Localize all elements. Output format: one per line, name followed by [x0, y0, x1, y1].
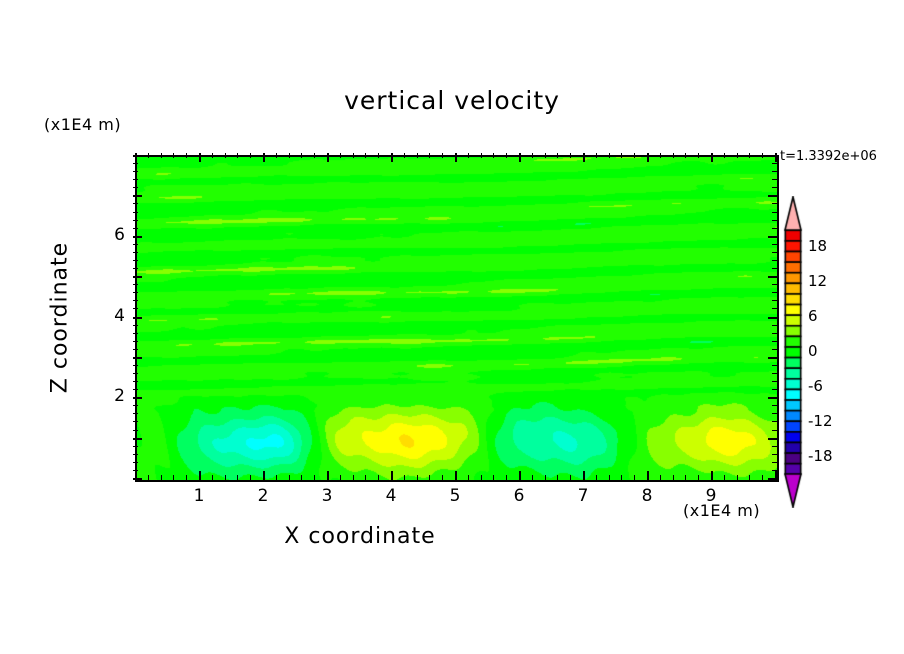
axis-tick-y	[133, 187, 138, 188]
axis-tick-y	[133, 397, 142, 399]
axis-tick-x	[698, 153, 699, 158]
axis-tick-x	[737, 475, 738, 480]
colorbar-tick-label: 0	[808, 342, 818, 360]
axis-tick-x	[327, 153, 329, 162]
axis-tick-x	[570, 475, 571, 480]
axis-tick-x	[173, 475, 174, 480]
axis-tick-x	[468, 153, 469, 158]
axis-tick-x	[314, 153, 315, 158]
axis-tick-x	[250, 153, 251, 158]
axis-tick-y	[133, 260, 138, 261]
axis-tick-x	[621, 475, 622, 480]
axis-tick-x	[263, 471, 265, 480]
axis-tick-x	[583, 153, 585, 162]
axis-tick-x	[173, 153, 174, 158]
axis-tick-x	[468, 475, 469, 480]
y-axis-title: Z coordinate	[48, 198, 73, 438]
axis-tick-x	[314, 475, 315, 480]
axis-tick-x	[161, 153, 162, 158]
axis-tick-x	[481, 153, 482, 158]
axis-tick-x	[673, 153, 674, 158]
colorbar-tick-label: -12	[808, 412, 833, 430]
axis-tick-x	[698, 475, 699, 480]
axis-tick-x	[711, 471, 713, 480]
axis-tick-x	[199, 471, 201, 480]
axis-tick-y	[133, 179, 138, 180]
axis-tick-x	[417, 475, 418, 480]
x-tick-label: 1	[179, 486, 219, 506]
axis-tick-y	[772, 171, 777, 172]
axis-tick-x	[250, 475, 251, 480]
axis-tick-x	[621, 153, 622, 158]
axis-tick-y	[133, 365, 138, 366]
axis-tick-x	[685, 153, 686, 158]
axis-tick-x	[391, 153, 393, 162]
axis-tick-y	[772, 163, 777, 164]
axis-tick-y	[772, 187, 777, 188]
axis-tick-x	[609, 153, 610, 158]
axis-tick-y	[772, 179, 777, 180]
axis-tick-y	[133, 220, 138, 221]
axis-tick-x	[340, 475, 341, 480]
axis-tick-y	[133, 212, 138, 213]
axis-tick-x	[749, 475, 750, 480]
x-tick-label: 3	[307, 486, 347, 506]
axis-tick-x	[570, 153, 571, 158]
axis-tick-x	[429, 475, 430, 480]
colorbar-tick-label: 6	[808, 307, 818, 325]
axis-tick-x	[365, 475, 366, 480]
axis-tick-x	[532, 153, 533, 158]
axis-tick-x	[417, 153, 418, 158]
axis-tick-y	[133, 446, 138, 447]
x-tick-label: 7	[563, 486, 603, 506]
y-tick-label: 2	[101, 386, 125, 406]
axis-tick-x	[557, 475, 558, 480]
axis-tick-x	[596, 475, 597, 480]
axis-tick-x	[506, 153, 507, 158]
axis-tick-x	[724, 153, 725, 158]
axis-tick-x	[545, 475, 546, 480]
y-tick-label: 6	[101, 225, 125, 245]
axis-tick-y	[133, 195, 142, 197]
axis-tick-x	[429, 153, 430, 158]
axis-tick-x	[289, 475, 290, 480]
axis-tick-x	[365, 153, 366, 158]
colorbar[interactable]	[776, 196, 810, 508]
axis-tick-y	[133, 292, 138, 293]
page-title: vertical velocity	[0, 86, 904, 115]
axis-tick-x	[276, 153, 277, 158]
axis-tick-x	[711, 153, 713, 162]
axis-tick-y	[133, 308, 138, 309]
axis-tick-y	[768, 155, 777, 157]
axis-tick-x	[353, 475, 354, 480]
axis-tick-y	[133, 325, 138, 326]
axis-tick-x	[634, 475, 635, 480]
axis-tick-x	[442, 475, 443, 480]
axis-tick-x	[301, 153, 302, 158]
colorbar-tick-label: -6	[808, 377, 823, 395]
x-tick-label: 9	[691, 486, 731, 506]
axis-tick-y	[133, 171, 138, 172]
axis-tick-x	[660, 153, 661, 158]
axis-tick-y	[133, 341, 138, 342]
axis-tick-y	[133, 228, 138, 229]
axis-tick-y	[133, 349, 138, 350]
axis-tick-x	[762, 475, 763, 480]
axis-tick-x	[762, 153, 763, 158]
axis-tick-x	[327, 471, 329, 480]
axis-tick-x	[493, 475, 494, 480]
axis-tick-x	[263, 153, 265, 162]
axis-tick-x	[199, 153, 201, 162]
axis-tick-x	[749, 153, 750, 158]
axis-tick-x	[532, 475, 533, 480]
axis-tick-x	[237, 153, 238, 158]
colorbar-tick-label: 18	[808, 237, 827, 255]
axis-tick-y	[133, 413, 138, 414]
timestamp-annotation: t=1.3392e+06	[780, 149, 877, 164]
colorbar-gradient	[776, 196, 810, 508]
axis-tick-x	[391, 471, 393, 480]
axis-tick-x	[647, 153, 649, 162]
colorbar-tick-label: 12	[808, 272, 827, 290]
axis-tick-x	[506, 475, 507, 480]
axis-tick-x	[685, 475, 686, 480]
axis-tick-y	[133, 163, 138, 164]
y-tick-label: 4	[101, 306, 125, 326]
axis-tick-x	[609, 475, 610, 480]
axis-tick-x	[557, 153, 558, 158]
axis-tick-x	[289, 153, 290, 158]
axis-tick-x	[212, 475, 213, 480]
axis-tick-x	[455, 471, 457, 480]
axis-tick-y	[133, 470, 138, 471]
axis-tick-x	[596, 153, 597, 158]
x-tick-label: 2	[243, 486, 283, 506]
axis-tick-y	[133, 284, 138, 285]
axis-tick-y	[133, 438, 142, 440]
axis-tick-x	[442, 153, 443, 158]
axis-tick-x	[404, 475, 405, 480]
axis-tick-x	[647, 471, 649, 480]
axis-tick-y	[133, 268, 138, 269]
axis-tick-x	[481, 475, 482, 480]
x-tick-label: 4	[371, 486, 411, 506]
axis-tick-x	[276, 475, 277, 480]
axis-tick-x	[148, 475, 149, 480]
contour-plot-area[interactable]	[135, 155, 779, 482]
x-tick-label: 5	[435, 486, 475, 506]
axis-tick-x	[186, 475, 187, 480]
axis-tick-x	[493, 153, 494, 158]
axis-tick-x	[737, 153, 738, 158]
axis-tick-x	[301, 475, 302, 480]
axis-tick-y	[133, 421, 138, 422]
axis-tick-y	[133, 357, 142, 359]
axis-tick-x	[186, 153, 187, 158]
axis-tick-x	[545, 153, 546, 158]
x-tick-label: 6	[499, 486, 539, 506]
axis-tick-y	[133, 430, 138, 431]
axis-tick-y	[133, 373, 138, 374]
axis-tick-y	[133, 300, 138, 301]
axis-tick-x	[340, 153, 341, 158]
x-tick-label: 8	[627, 486, 667, 506]
axis-tick-x	[225, 475, 226, 480]
axis-tick-x	[519, 471, 521, 480]
axis-tick-x	[378, 153, 379, 158]
axis-tick-x	[161, 475, 162, 480]
axis-tick-y	[133, 478, 142, 480]
axis-tick-y	[133, 203, 138, 204]
axis-tick-x	[583, 471, 585, 480]
axis-tick-x	[634, 153, 635, 158]
axis-tick-x	[237, 475, 238, 480]
axis-tick-y	[133, 389, 138, 390]
axis-tick-x	[673, 475, 674, 480]
axis-tick-y	[133, 236, 142, 238]
axis-tick-x	[660, 475, 661, 480]
axis-tick-y	[133, 381, 138, 382]
axis-tick-y	[133, 244, 138, 245]
axis-tick-x	[148, 153, 149, 158]
y-axis-unit-label: (x1E4 m)	[44, 115, 121, 134]
axis-tick-x	[378, 475, 379, 480]
axis-tick-y	[133, 276, 142, 278]
axis-tick-x	[212, 153, 213, 158]
colorbar-tick-label: -18	[808, 447, 833, 465]
axis-tick-x	[353, 153, 354, 158]
axis-tick-x	[519, 153, 521, 162]
axis-tick-x	[225, 153, 226, 158]
axis-tick-y	[133, 405, 138, 406]
axis-tick-x	[404, 153, 405, 158]
axis-tick-y	[133, 462, 138, 463]
contour-field	[137, 157, 777, 480]
axis-tick-y	[133, 252, 138, 253]
axis-tick-y	[133, 317, 142, 319]
x-axis-title: X coordinate	[0, 524, 720, 549]
axis-tick-y	[133, 155, 142, 157]
axis-tick-x	[455, 153, 457, 162]
axis-tick-y	[133, 333, 138, 334]
axis-tick-y	[133, 454, 138, 455]
axis-tick-x	[724, 475, 725, 480]
